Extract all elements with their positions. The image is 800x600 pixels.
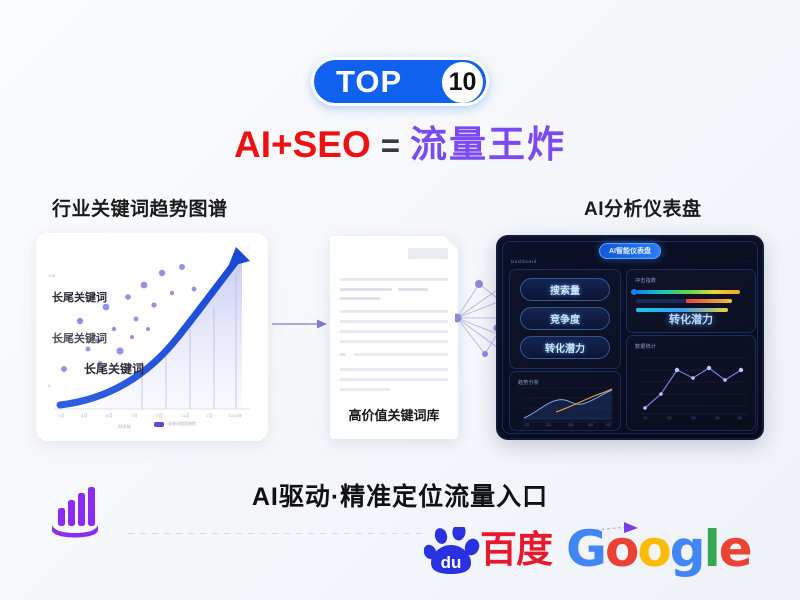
area-x-tick-1: Q2 <box>667 416 672 420</box>
doc-skeleton-line <box>340 340 448 343</box>
footer-tagline: AI驱动·精准定位流量入口 <box>0 477 800 513</box>
top-rank-badge: TOP 10 <box>311 57 489 106</box>
doc-skeleton-line <box>340 297 380 300</box>
top-badge-label: TOP <box>336 66 402 97</box>
pill-competition[interactable]: 竞争度 <box>520 307 610 330</box>
chart-x-tick-3: 7月 <box>131 413 138 419</box>
gauge-panel-title: 冲击指数 <box>635 277 656 284</box>
data-statistics-panel: 数据统计 <box>626 335 756 431</box>
chart-y-axis-max: 100 <box>48 273 56 278</box>
chart-x-tick-6: 1月 <box>206 413 213 419</box>
google-letter-g2: g <box>670 520 704 578</box>
document-header-chip <box>408 248 448 259</box>
baidu-wordmark: 百度 <box>480 531 552 568</box>
doc-skeleton-line <box>340 378 448 381</box>
legend-label: 关键词搜索指数 <box>168 421 196 427</box>
gauge-caption: 转化潜力 <box>627 311 755 327</box>
google-letter-o2: o <box>637 520 669 578</box>
doc-skeleton-line <box>340 278 448 281</box>
metric-pills-panel: 搜索量 竞争度 转化潜力 <box>509 269 621 369</box>
area-x-tick-4: Q5 <box>737 416 742 420</box>
chart-annotation-1: 长尾关键词 <box>52 293 107 304</box>
left-section-heading: 行业关键词趋势图谱 <box>52 200 228 219</box>
svg-text:du: du <box>441 553 462 572</box>
flow-arrow-right-icon <box>272 318 328 330</box>
area-x-tick-0: Q1 <box>643 416 648 420</box>
trend-chart-graphic: 长尾关键词 长尾关键词 长尾关键词 0 100 1月 3月 5月 7月 9月 1… <box>36 233 268 441</box>
area-x-tick-3: Q4 <box>715 416 720 420</box>
doc-skeleton-line <box>340 310 448 313</box>
slide-canvas: TOP 10 AI+SEO=流量王炸 行业关键词趋势图谱 AI分析仪表盘 <box>0 0 800 600</box>
title-part-traffic: 流量王炸 <box>410 124 566 165</box>
line-x-tick-4: 5月 <box>606 422 611 427</box>
doc-skeleton-line <box>398 288 428 291</box>
top-badge-number-circle: 10 <box>442 62 483 103</box>
right-section-heading: AI分析仪表盘 <box>584 200 702 219</box>
chart-x-tick-4: 9月 <box>156 413 163 419</box>
google-letter-o1: o <box>605 520 637 578</box>
ai-dashboard-panel: AI智能仪表盘 Dashboard ··· 搜索量 竞争度 转化潜力 冲击指数 … <box>496 235 764 440</box>
dashboard-menu-icon[interactable]: ··· <box>741 259 750 265</box>
doc-skeleton-line <box>340 320 448 323</box>
impact-gauge-panel: 冲击指数 转化潜力 <box>626 269 756 333</box>
dashboard-brand-label: Dashboard <box>511 259 537 264</box>
google-letter-e: e <box>719 520 751 578</box>
doc-skeleton-line <box>340 368 448 371</box>
chart-annotation-2: 长尾关键词 <box>52 334 107 345</box>
keyword-trend-chart-card: 长尾关键词 长尾关键词 长尾关键词 0 100 1月 3月 5月 7月 9月 1… <box>36 233 268 441</box>
google-letter-l: l <box>704 520 719 578</box>
chart-legend: 关键词搜索指数 <box>154 421 196 427</box>
area-x-tick-2: Q3 <box>691 416 696 420</box>
doc-skeleton-line <box>340 288 392 291</box>
chart-x-tick-1: 3月 <box>81 413 88 419</box>
doc-skeleton-line <box>354 353 448 356</box>
pill-search-volume[interactable]: 搜索量 <box>520 278 610 301</box>
gauge-bar-1 <box>636 290 740 294</box>
bar-chart-icon <box>44 484 106 540</box>
chart-x-tick-2: 5月 <box>106 413 113 419</box>
line-x-tick-3: 4月 <box>588 422 593 427</box>
chart-x-tick-0: 1月 <box>58 413 65 419</box>
pill-conversion-potential[interactable]: 转化潜力 <box>520 336 610 359</box>
title-part-ai-seo: AI+SEO <box>234 124 371 165</box>
footer-divider <box>128 533 428 534</box>
gauge-bar-2 <box>636 299 732 303</box>
dashboard-title-badge: AI智能仪表盘 <box>599 243 661 259</box>
gauge-handle-icon <box>631 289 637 295</box>
chart-x-tick-5: 11月 <box>181 413 190 419</box>
title-equals-sign: = <box>381 127 400 164</box>
google-wordmark: Google <box>566 524 751 574</box>
top-badge-number: 10 <box>449 70 477 95</box>
line-x-tick-2: 3月 <box>568 422 573 427</box>
line-x-tick-0: 1月 <box>524 422 529 427</box>
doc-skeleton-bullet <box>340 353 346 356</box>
line-x-tick-1: 2月 <box>546 422 551 427</box>
google-letter-g1: G <box>566 520 605 578</box>
document-caption: 高价值关键词库 <box>332 405 456 424</box>
chart-x-axis-label: 时间轴 <box>118 424 131 430</box>
chart-x-tick-7: 2025年 <box>228 413 242 419</box>
chart-annotation-3: 长尾关键词 <box>84 363 144 375</box>
doc-skeleton-line <box>340 388 390 391</box>
chart-y-axis-min: 0 <box>48 383 51 388</box>
doc-skeleton-line <box>340 330 448 333</box>
trend-line-panel: 趋势分析 1月 2月 3月 4月 5月 <box>509 371 621 431</box>
legend-swatch-icon <box>154 422 164 427</box>
page-title: AI+SEO=流量王炸 <box>0 126 800 163</box>
